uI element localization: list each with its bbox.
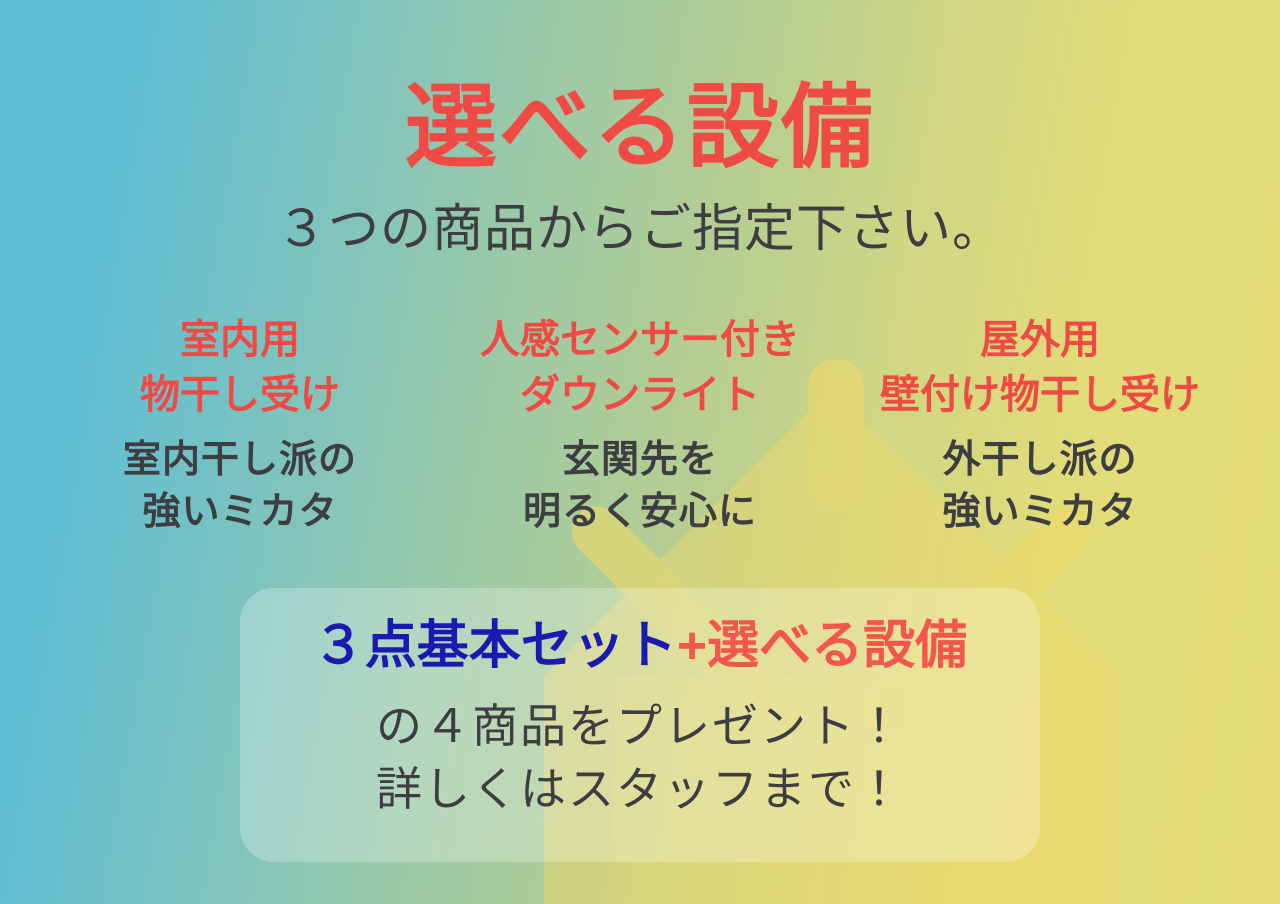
option-desc-line1: 室内干し派の xyxy=(123,439,357,481)
promo-headline: ３点基本セット+選べる設備 xyxy=(0,620,1280,672)
options-row: 室内用 物干し受け 室内干し派の 強いミカタ 人感センサー付き ダウンライト 玄… xyxy=(0,313,1280,538)
promo-headline-set: ３点基本セット xyxy=(313,617,677,675)
option-heading-line2: 壁付け物干し受け xyxy=(840,368,1240,423)
option-heading-line1: 人感センサー付き xyxy=(480,318,800,362)
promo-headline-plus-equipment: +選べる設備 xyxy=(677,617,967,675)
option-card-sensor-downlight[interactable]: 人感センサー付き ダウンライト 玄関先を 明るく安心に xyxy=(440,313,840,538)
promo-detail-line-2: 詳しくはスタッフまで！ xyxy=(0,766,1280,812)
option-heading: 屋外用 壁付け物干し受け xyxy=(840,313,1240,423)
option-heading: 人感センサー付き ダウンライト xyxy=(440,313,840,423)
option-description: 外干し派の 強いミカタ xyxy=(840,435,1240,538)
page-title: 選べる設備 xyxy=(0,82,1280,174)
promo-detail-line-1: の４商品をプレゼント！ xyxy=(0,703,1280,749)
option-heading-line2: ダウンライト xyxy=(440,368,840,423)
option-description: 室内干し派の 強いミカタ xyxy=(40,435,440,538)
page-subtitle: ３つの商品からご指定下さい。 xyxy=(0,203,1280,254)
option-desc-line2: 強いミカタ xyxy=(840,487,1240,538)
option-card-outdoor-rack[interactable]: 屋外用 壁付け物干し受け 外干し派の 強いミカタ xyxy=(840,313,1240,538)
option-desc-line2: 明るく安心に xyxy=(440,487,840,538)
option-heading-line1: 屋外用 xyxy=(980,318,1100,362)
option-heading-line1: 室内用 xyxy=(180,318,300,362)
option-desc-line1: 外干し派の xyxy=(942,439,1137,481)
option-description: 玄関先を 明るく安心に xyxy=(440,435,840,538)
option-desc-line2: 強いミカタ xyxy=(40,487,440,538)
option-desc-line1: 玄関先を xyxy=(562,439,718,481)
promo-poster: 選べる設備 ３つの商品からご指定下さい。 室内用 物干し受け 室内干し派の 強い… xyxy=(0,0,1280,904)
option-card-indoor-rack[interactable]: 室内用 物干し受け 室内干し派の 強いミカタ xyxy=(40,313,440,538)
option-heading: 室内用 物干し受け xyxy=(40,313,440,423)
option-heading-line2: 物干し受け xyxy=(40,368,440,423)
